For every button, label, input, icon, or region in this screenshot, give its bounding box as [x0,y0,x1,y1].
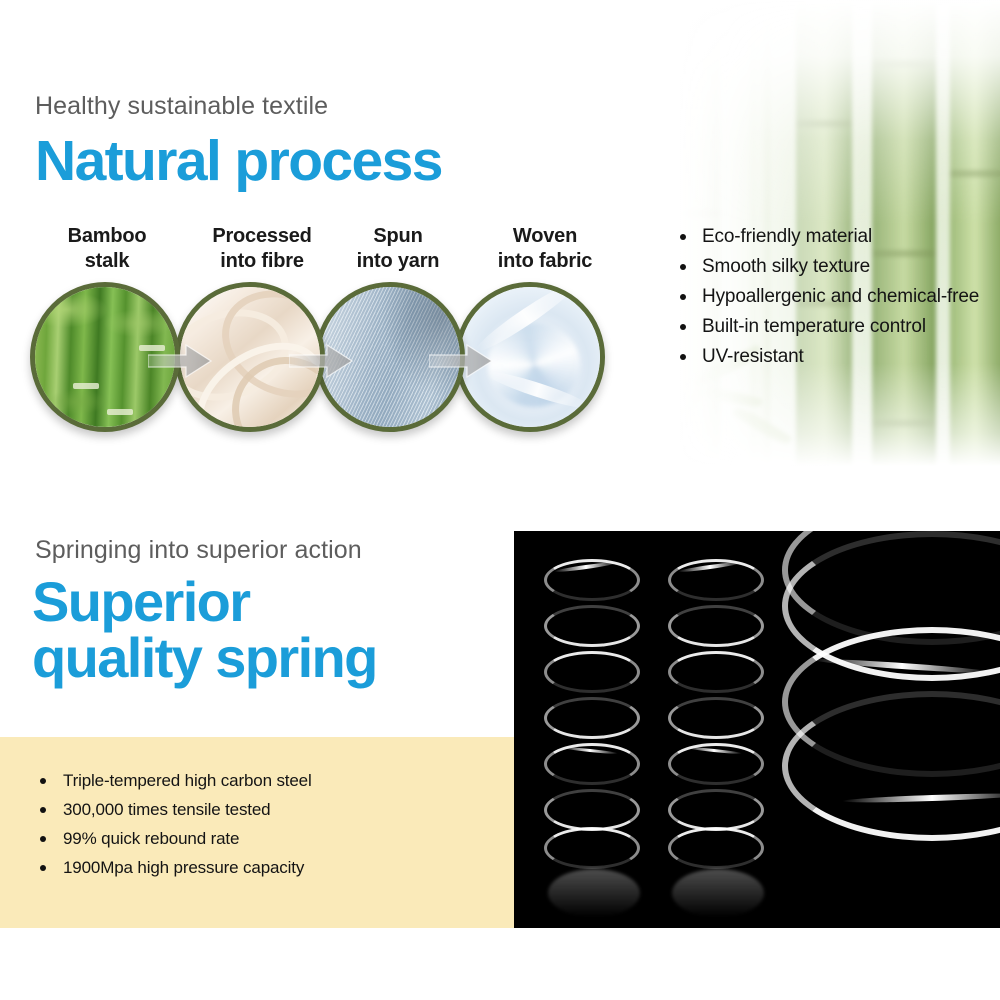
process-arrow-icon [148,344,212,378]
list-item: 99% quick rebound rate [32,824,312,853]
step-label-bamboo-stalk: Bamboo stalk [40,224,174,274]
step-label-line1: Spun [330,224,466,249]
step-label-line1: Woven [450,224,640,249]
step-label-line2: into fabric [450,249,640,274]
list-item: Triple-tempered high carbon steel [32,766,312,795]
step-label-line1: Processed [176,224,348,249]
natural-process-headline: Natural process [35,128,442,194]
list-item: Eco-friendly material [672,222,979,252]
step-label-line2: stalk [40,249,174,274]
list-item: Built-in temperature control [672,312,979,342]
superior-spring-kicker: Springing into superior action [35,536,362,565]
list-item: 1900Mpa high pressure capacity [32,853,312,882]
product-infographic: Healthy sustainable textile Natural proc… [0,0,1000,1000]
process-arrow-icon [429,344,493,378]
spring-features-list: Triple-tempered high carbon steel 300,00… [32,766,312,882]
superior-spring-section: Springing into superior action Superior … [0,466,1000,1000]
coil-spring-foreground [782,531,1000,895]
natural-process-kicker: Healthy sustainable textile [35,92,328,121]
step-label-line1: Bamboo [40,224,174,249]
bamboo-benefits-list: Eco-friendly material Smooth silky textu… [672,222,979,372]
step-label-woven-into-fabric: Woven into fabric [450,224,640,274]
step-label-processed-into-fibre: Processed into fibre [176,224,348,274]
list-item: Hypoallergenic and chemical-free [672,282,979,312]
natural-process-section: Healthy sustainable textile Natural proc… [0,0,1000,466]
coil-spring-left [544,559,640,869]
coil-spring-middle [668,559,764,869]
step-label-line2: into fibre [176,249,348,274]
step-label-line2: into yarn [330,249,466,274]
list-item: 300,000 times tensile tested [32,795,312,824]
coil-springs-photo [514,531,1000,928]
process-arrow-icon [289,344,353,378]
superior-spring-headline: Superior quality spring [32,574,377,686]
list-item: UV-resistant [672,342,979,372]
step-label-spun-into-yarn: Spun into yarn [330,224,466,274]
list-item: Smooth silky texture [672,252,979,282]
